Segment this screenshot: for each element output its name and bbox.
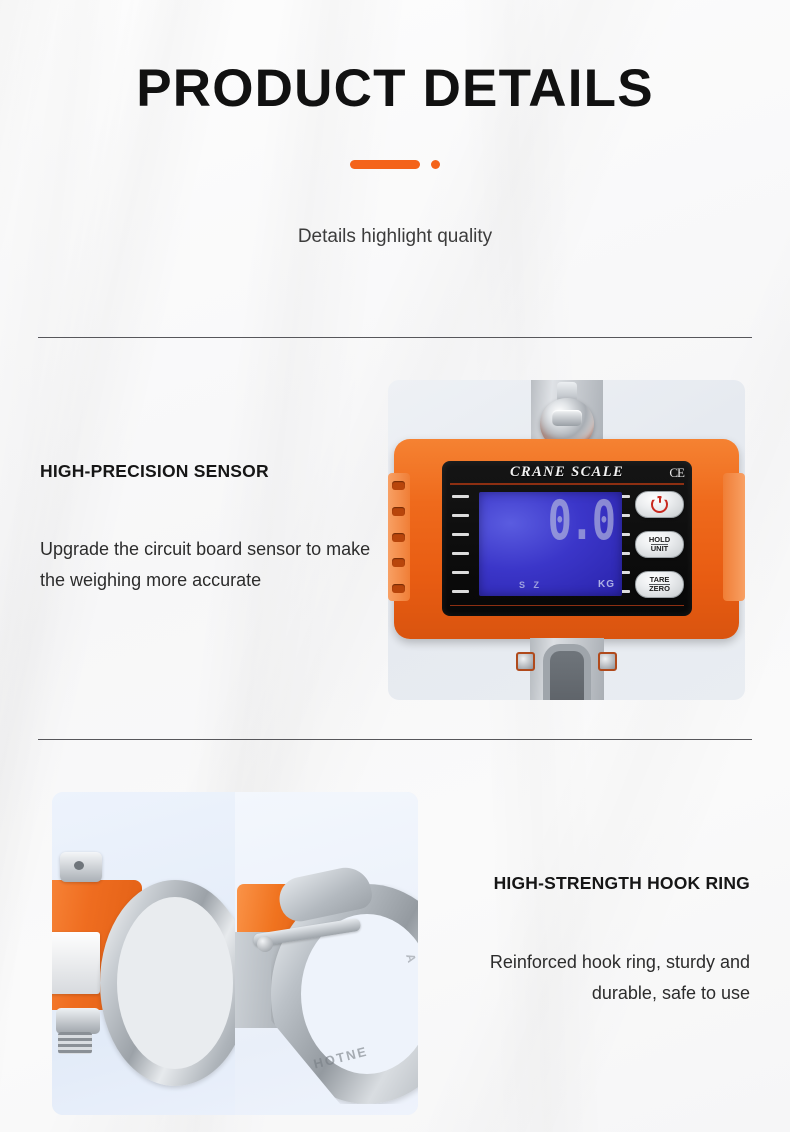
shackle-pin-bottom — [56, 1008, 100, 1034]
unit-label: UNIT — [651, 544, 669, 553]
hold-label: HOLD — [649, 536, 670, 544]
crane-scale-photo: CRANE SCALE CE 0.0 S Z KG — [388, 380, 745, 700]
display-bezel: CRANE SCALE CE 0.0 S Z KG — [442, 461, 692, 616]
tare-label: TARE — [650, 576, 670, 584]
bolt-left-icon — [516, 652, 535, 671]
shackle-ring-icon — [100, 880, 235, 1086]
ce-mark-icon: CE — [669, 465, 684, 481]
section-2-body: Reinforced hook ring, sturdy and durable… — [450, 947, 750, 1009]
bezel-accent-line-bottom — [450, 605, 684, 607]
accent-divider — [0, 160, 790, 169]
page-subtitle: Details highlight quality — [0, 226, 790, 248]
safety-hook-closeup: HOTNE A — [235, 792, 418, 1115]
latch-pivot — [257, 936, 273, 952]
keypad: HOLD UNIT TARE ZERO — [635, 491, 684, 598]
shackle-pin-top — [60, 852, 102, 882]
lcd-screen: 0.0 S Z KG — [479, 492, 622, 596]
housing-ribs-left — [392, 481, 405, 593]
hold-unit-button[interactable]: HOLD UNIT — [635, 531, 684, 558]
scale-housing: CRANE SCALE CE 0.0 S Z KG — [394, 439, 739, 639]
product-details-page: PRODUCT DETAILS Details highlight qualit… — [0, 0, 790, 1132]
lcd-weight-value: 0.0 — [548, 497, 614, 547]
accent-bar — [350, 160, 420, 169]
power-icon — [651, 496, 668, 513]
spring-icon — [58, 1032, 92, 1054]
page-title: PRODUCT DETAILS — [0, 62, 790, 115]
section-divider-bottom — [38, 739, 752, 740]
section-1-body: Upgrade the circuit board sensor to make… — [40, 534, 385, 596]
section-divider-top — [38, 337, 752, 338]
bezel-ticks-left — [452, 495, 469, 593]
tare-zero-button[interactable]: TARE ZERO — [635, 571, 684, 598]
housing-ribs-right — [728, 481, 741, 593]
lcd-indicators: S Z — [519, 580, 542, 590]
section-2-heading: HIGH-STRENGTH HOOK RING — [494, 873, 750, 894]
safety-hook-icon: HOTNE A — [261, 874, 411, 1070]
power-button[interactable] — [635, 491, 684, 518]
accent-dot — [431, 160, 440, 169]
metal-band — [52, 932, 100, 994]
bolt-right-icon — [598, 652, 617, 671]
hook-ring-photos: HOTNE A — [52, 792, 418, 1115]
lcd-unit-label: KG — [598, 579, 615, 590]
zero-label: ZERO — [649, 584, 670, 593]
shackle-ring-closeup — [52, 792, 235, 1115]
bottom-shackle-icon — [543, 644, 591, 700]
bezel-accent-line-top — [450, 483, 684, 485]
section-1-heading: HIGH-PRECISION SENSOR — [40, 461, 269, 482]
device-brand-label: CRANE SCALE — [442, 464, 692, 481]
